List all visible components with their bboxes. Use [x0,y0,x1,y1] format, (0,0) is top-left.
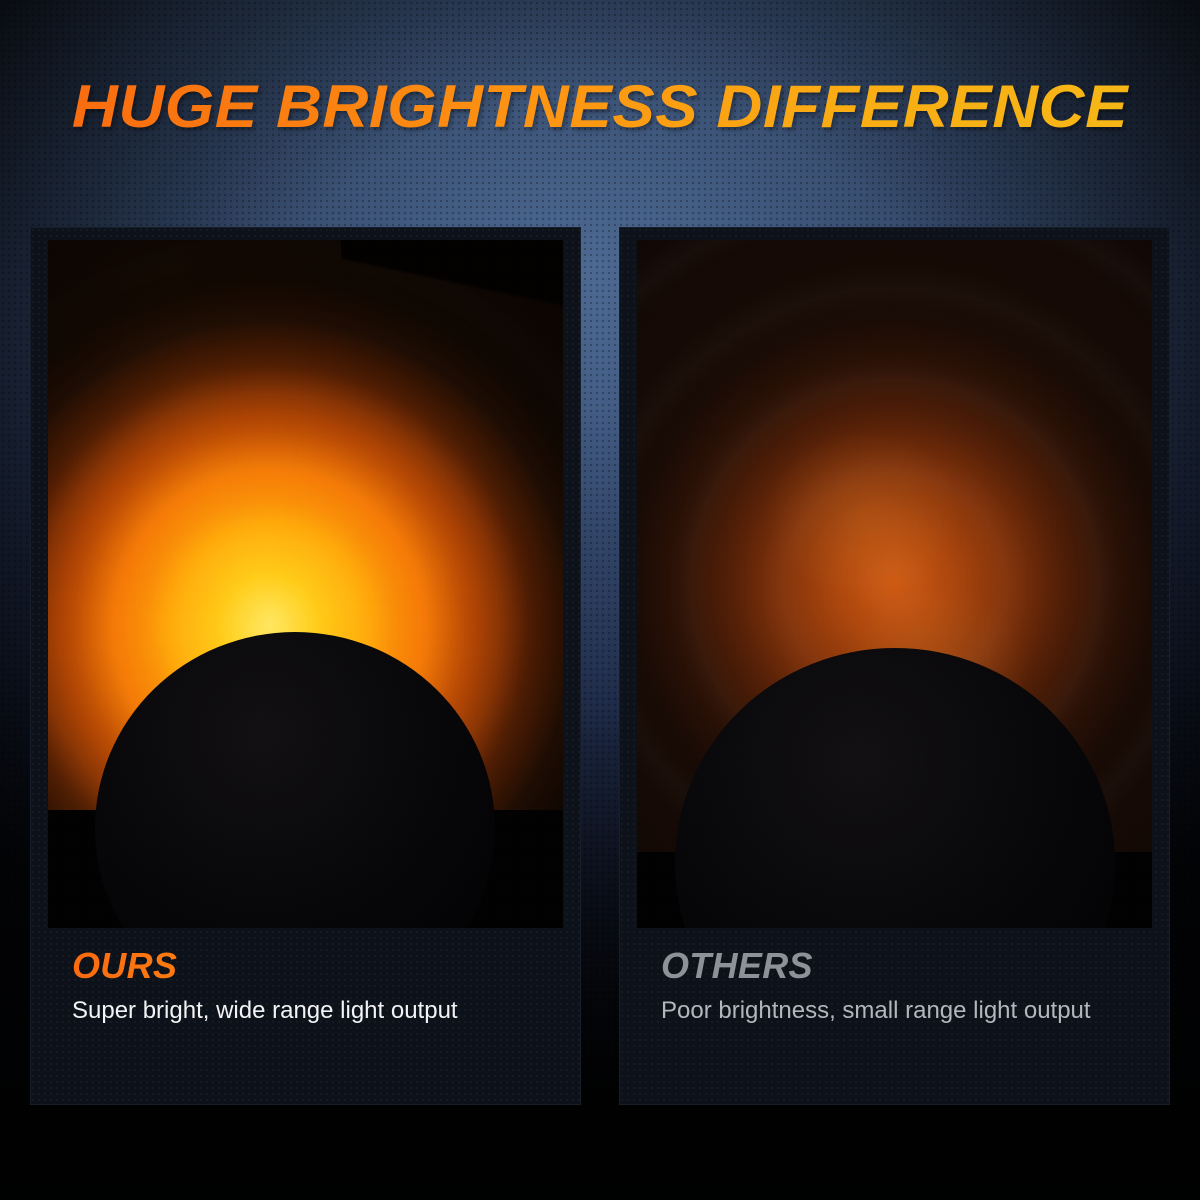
caption-text-others: Poor brightness, small range light outpu… [661,995,1111,1026]
caption-ours: OURS Super bright, wide range light outp… [72,945,555,1026]
photo-others [637,240,1152,928]
photo-ours [48,240,563,928]
comparison-card-ours: OURS Super bright, wide range light outp… [30,227,581,1105]
product-comparison-graphic: HUGE BRIGHTNESS DIFFERENCE OURS Super br… [0,0,1200,1200]
ours-wall-corner [333,240,563,429]
label-others: OTHERS [661,945,1144,987]
comparison-card-others: OTHERS Poor brightness, small range ligh… [619,227,1170,1105]
caption-others: OTHERS Poor brightness, small range ligh… [661,945,1144,1026]
caption-text-ours: Super bright, wide range light output [72,995,542,1026]
label-ours: OURS [72,945,555,987]
page-title: HUGE BRIGHTNESS DIFFERENCE [0,74,1200,140]
comparison-panels: OURS Super bright, wide range light outp… [30,227,1170,1105]
